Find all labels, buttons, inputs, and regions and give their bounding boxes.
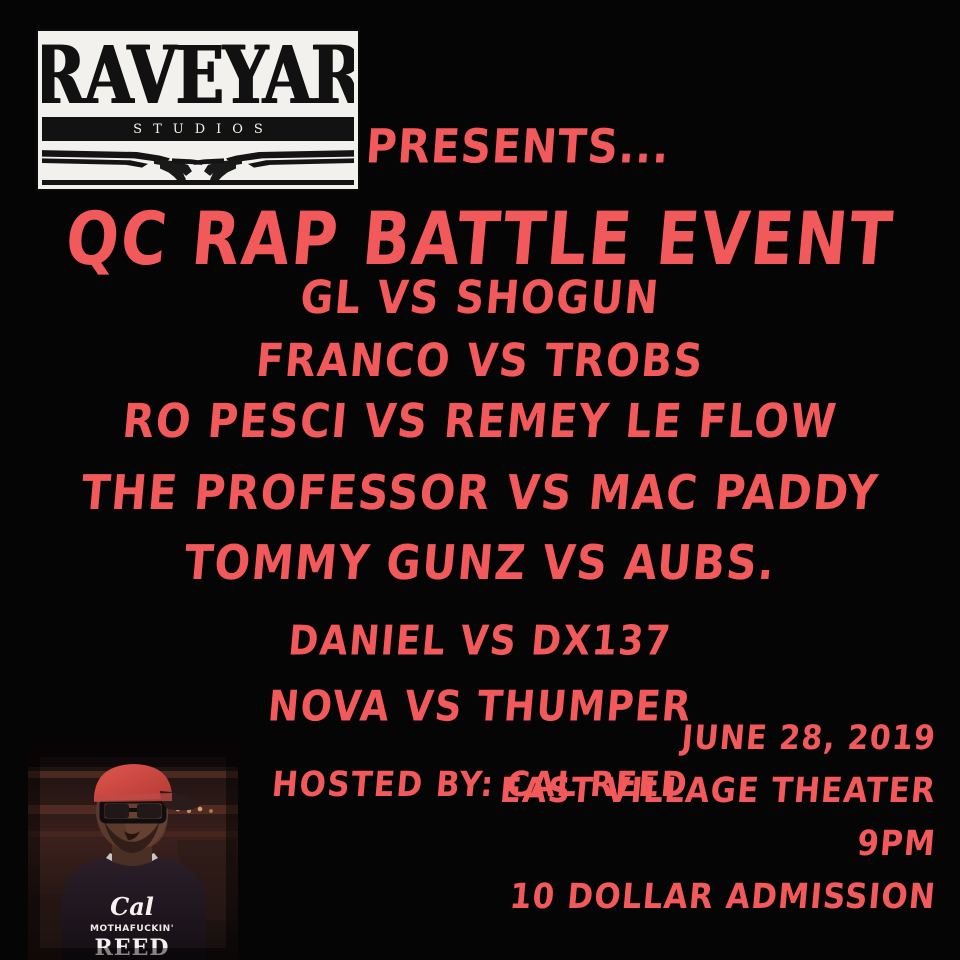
logo-bottom-rule bbox=[42, 180, 354, 185]
logo-inner-panel: GRAVEYARD STUDIOS bbox=[42, 35, 354, 185]
event-details: JUNE 28, 2019 EAST VILLAGE THEATER 9PM 1… bbox=[456, 724, 936, 913]
event-price: 10 DOLLAR ADMISSION bbox=[454, 880, 937, 915]
battle-line: RO PESCI VS REMEY LE FLOW bbox=[0, 398, 960, 445]
battle-line: TOMMY GUNZ VS AUBS. bbox=[0, 539, 960, 587]
battle-line: DANIEL VS DX137 bbox=[0, 621, 960, 662]
battle-line: GL VS SHOGUN bbox=[0, 275, 960, 321]
event-flyer: GRAVEYARD STUDIOS bbox=[0, 0, 960, 960]
svg-text:Cal: Cal bbox=[110, 892, 154, 921]
logo-studios-text: STUDIOS bbox=[122, 123, 274, 136]
event-venue: EAST VILLAGE THEATER bbox=[454, 774, 937, 809]
logo-studios-band: STUDIOS bbox=[42, 117, 354, 141]
event-time: 9PM bbox=[454, 827, 937, 862]
presents-text: PRESENTS... bbox=[364, 123, 671, 170]
battle-line: THE PROFESSOR VS MAC PADDY bbox=[0, 469, 960, 517]
svg-text:MOTHAFUCKIN': MOTHAFUCKIN' bbox=[90, 924, 174, 934]
logo-wordmark-area: GRAVEYARD bbox=[42, 35, 354, 117]
logo-wordmark-text: GRAVEYARD bbox=[42, 36, 354, 115]
page-title: QC RAP BATTLE EVENT bbox=[0, 202, 960, 275]
event-date: JUNE 28, 2019 bbox=[455, 722, 938, 756]
battle-line: FRANCO VS TROBS bbox=[0, 338, 960, 384]
host-photo-cal-reed: Cal MOTHAFUCKIN' REED bbox=[28, 745, 238, 960]
skeleton-hands-icon bbox=[42, 141, 354, 185]
graveyard-studios-logo: GRAVEYARD STUDIOS bbox=[38, 31, 358, 189]
